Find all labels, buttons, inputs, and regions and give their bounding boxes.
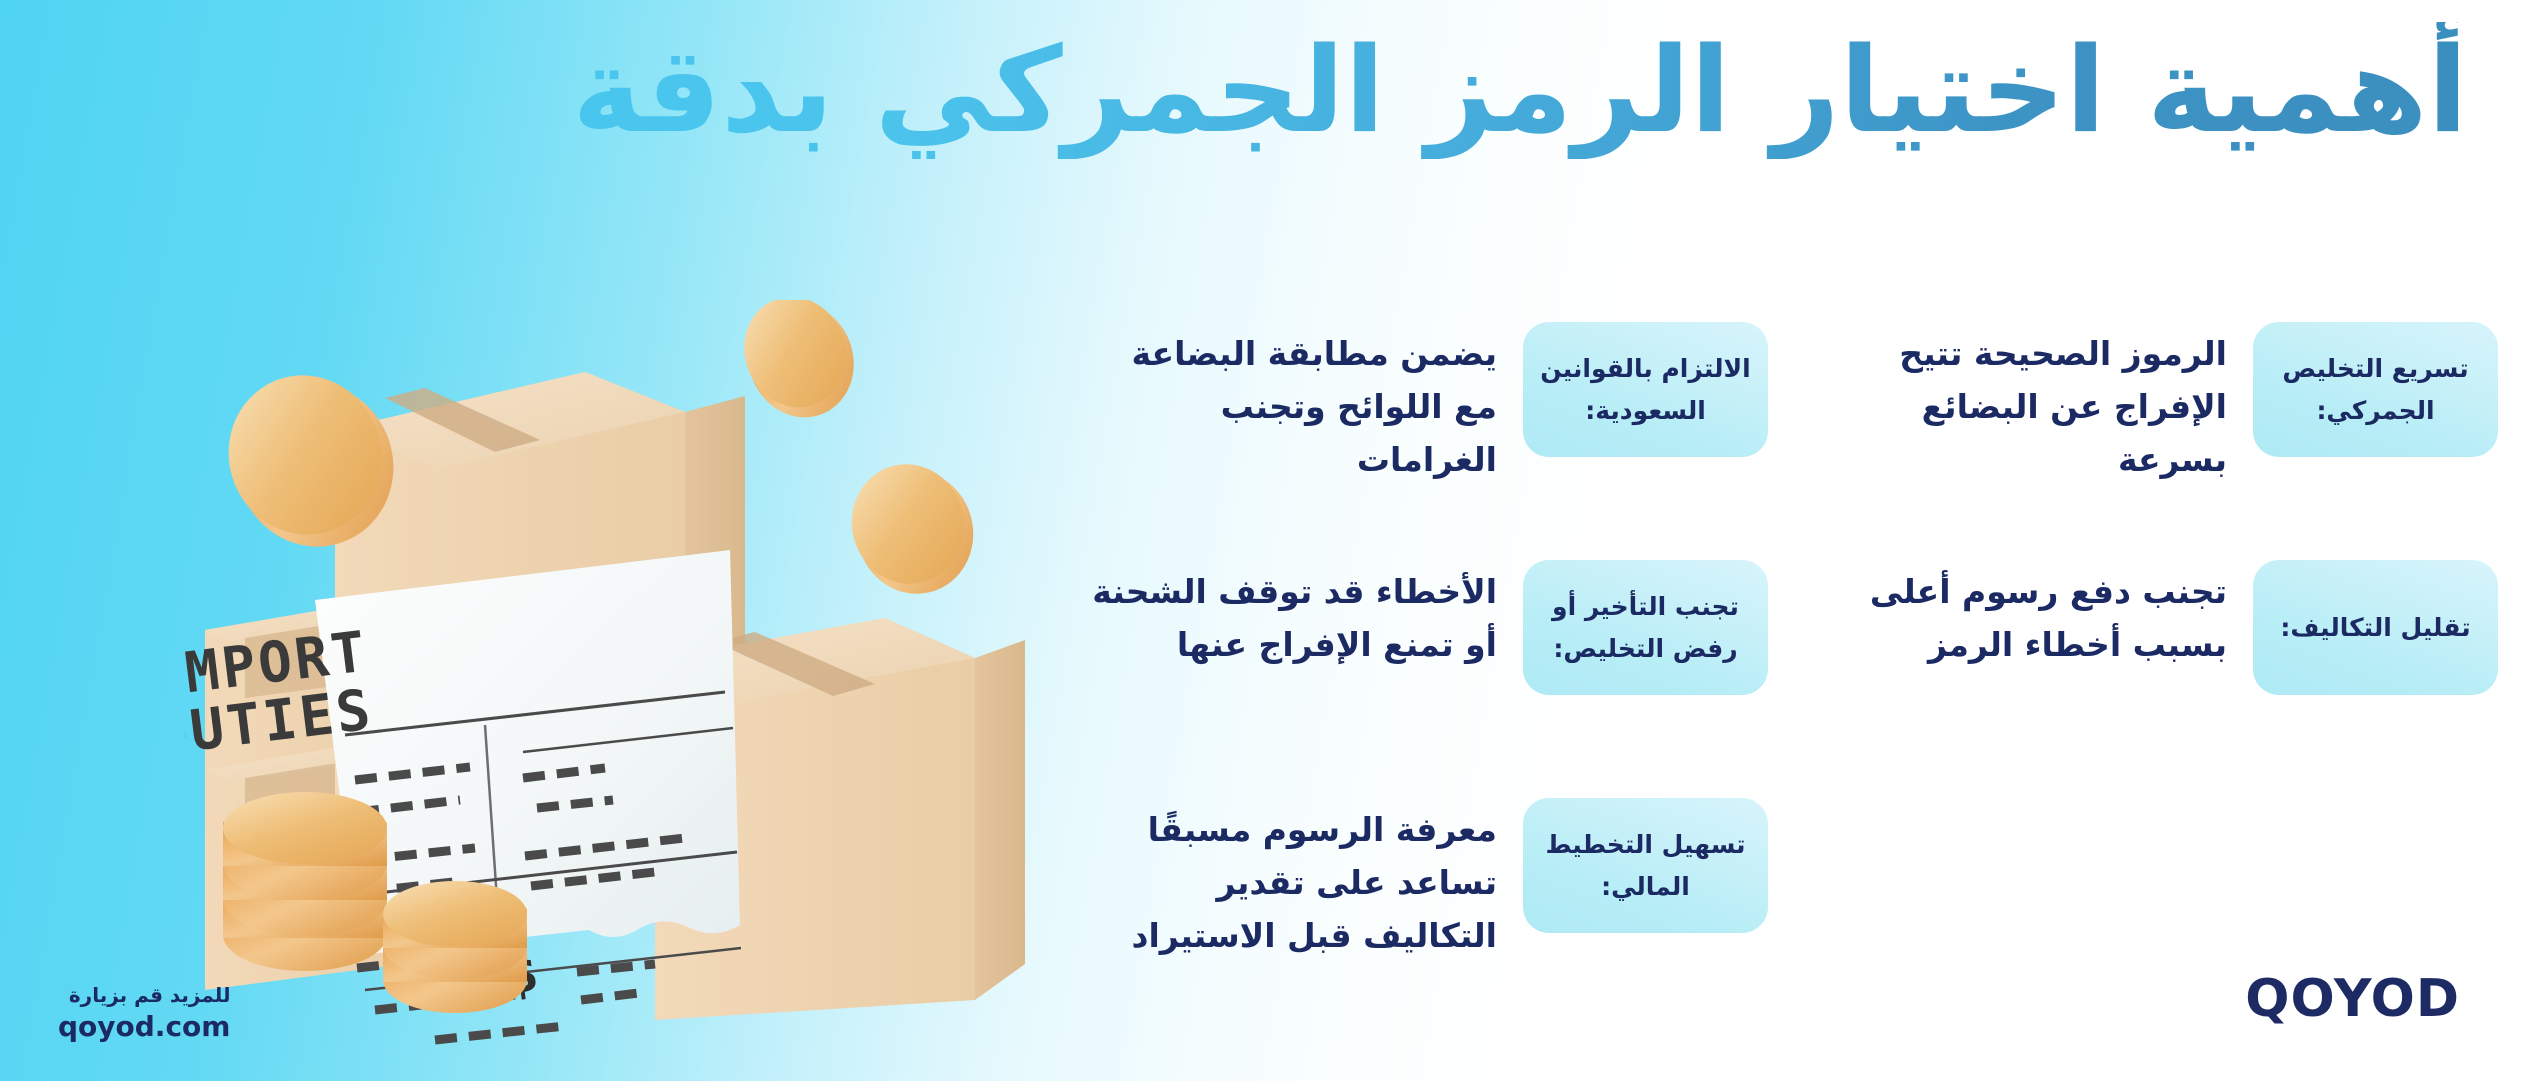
benefit-label: تقليل التكاليف: (2280, 607, 2470, 649)
benefit-label-pill: تسريع التخليص الجمركي: (2253, 322, 2498, 457)
benefit-label-pill: تجنب التأخير أو رفض التخليص: (1523, 560, 1768, 695)
benefit-label: تسريع التخليص الجمركي: (2267, 348, 2484, 432)
coin-stack-icon (383, 881, 527, 1013)
benefit-description: تجنب دفع رسوم أعلى بسبب أخطاء الرمز (1808, 560, 2227, 672)
benefit-description: معرفة الرسوم مسبقًا تساعد على تقدير التك… (1078, 798, 1497, 962)
benefit-card: تجنب التأخير أو رفض التخليص: الأخطاء قد … (1078, 560, 1768, 796)
page-title: أهمية اختيار الرمز الجمركي بدقة (60, 22, 2468, 159)
benefit-card: تسريع التخليص الجمركي: الرموز الصحيحة تت… (1808, 322, 2498, 558)
website-link[interactable]: qoyod.com (58, 1009, 230, 1045)
visit-prompt-label: للمزيد قم بزيارة (58, 982, 230, 1009)
benefit-label-pill: تسهيل التخطيط المالي: (1523, 798, 1768, 933)
benefit-card: الالتزام بالقوانين السعودية: يضمن مطابقة… (1078, 322, 1768, 558)
benefit-description: الأخطاء قد توقف الشحنة أو تمنع الإفراج ع… (1078, 560, 1497, 672)
gold-coin-icon (839, 452, 986, 606)
benefit-description: يضمن مطابقة البضاعة مع اللوائح وتجنب الغ… (1078, 322, 1497, 486)
benefit-label-pill: تقليل التكاليف: (2253, 560, 2498, 695)
benefit-label: تجنب التأخير أو رفض التخليص: (1537, 586, 1754, 670)
benefit-label: تسهيل التخطيط المالي: (1537, 824, 1754, 908)
benefits-grid: تسريع التخليص الجمركي: الرموز الصحيحة تت… (998, 322, 2498, 1034)
coin-stack-icon (223, 792, 387, 971)
footer-visit-note: للمزيد قم بزيارة qoyod.com (58, 982, 230, 1045)
benefit-card: تسهيل التخطيط المالي: معرفة الرسوم مسبقً… (1078, 798, 1768, 1034)
benefit-label-pill: الالتزام بالقوانين السعودية: (1523, 322, 1768, 457)
benefit-description: الرموز الصحيحة تتيح الإفراج عن البضائع ب… (1808, 322, 2227, 486)
qoyod-logo: QOYOD (2245, 969, 2460, 1029)
import-duties-illustration: IMPORT DUTIES (185, 300, 1085, 1060)
gold-coin-icon (729, 300, 870, 432)
infographic-canvas: أهمية اختيار الرمز الجمركي بدقة (0, 0, 2528, 1081)
benefit-card: تقليل التكاليف: تجنب دفع رسوم أعلى بسبب … (1808, 560, 2498, 796)
benefit-label: الالتزام بالقوانين السعودية: (1537, 348, 1754, 432)
